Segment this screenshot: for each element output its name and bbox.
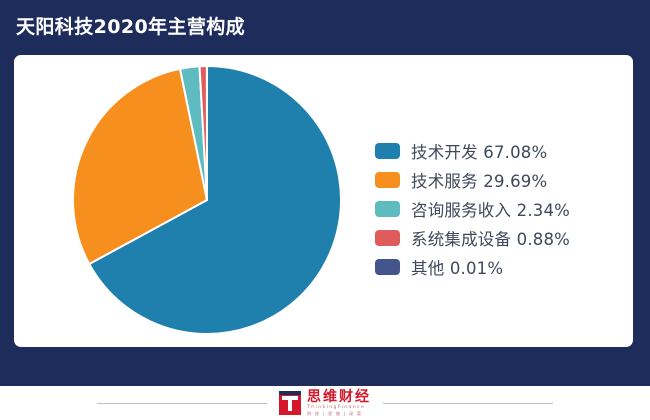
logo-text-block: 思维财经 ThinkingFinance 财 经 | 思 维 | 深 度 xyxy=(307,390,371,417)
logo-name-cn: 思维财经 xyxy=(307,390,371,405)
legend-swatch-consulting-revenue xyxy=(375,201,400,217)
legend-swatch-technical-service xyxy=(375,172,400,188)
legend-item: 咨询服务收入 2.34% xyxy=(375,196,570,222)
legend-label: 咨询服务收入 2.34% xyxy=(411,197,570,221)
legend-swatch-system-integration xyxy=(375,230,400,246)
logo-tagline: 财 经 | 思 维 | 深 度 xyxy=(307,411,371,417)
legend-label: 其他 0.01% xyxy=(411,255,503,279)
footer-rule-left xyxy=(97,403,267,404)
legend-label: 技术服务 29.69% xyxy=(411,168,547,192)
legend-item: 技术服务 29.69% xyxy=(375,167,570,193)
page-title: 天阳科技2020年主营构成 xyxy=(16,8,245,46)
legend-swatch-other xyxy=(375,259,400,275)
pie-chart-svg xyxy=(71,64,343,336)
footer-band: 思维财经 ThinkingFinance 财 经 | 思 维 | 深 度 xyxy=(0,386,650,420)
legend-item: 其他 0.01% xyxy=(375,254,570,280)
legend-label: 系统集成设备 0.88% xyxy=(411,226,570,250)
infographic-root: 天阳科技2020年主营构成 技术开发 67.08% 技术服务 29.69% 咨询… xyxy=(0,0,650,420)
brand-logo: 思维财经 ThinkingFinance 财 经 | 思 维 | 深 度 xyxy=(279,390,371,417)
logo-bar-icon xyxy=(279,391,301,395)
chart-card: 技术开发 67.08% 技术服务 29.69% 咨询服务收入 2.34% 系统集… xyxy=(14,55,633,347)
chart-legend: 技术开发 67.08% 技术服务 29.69% 咨询服务收入 2.34% 系统集… xyxy=(375,138,570,280)
pie-chart xyxy=(71,64,343,336)
legend-item: 系统集成设备 0.88% xyxy=(375,225,570,251)
footer-rule-right xyxy=(383,403,553,404)
legend-item: 技术开发 67.08% xyxy=(375,138,570,164)
logo-t-icon xyxy=(279,391,301,415)
legend-label: 技术开发 67.08% xyxy=(411,139,547,163)
legend-swatch-technical-development xyxy=(375,143,400,159)
pie-slices xyxy=(73,66,341,334)
